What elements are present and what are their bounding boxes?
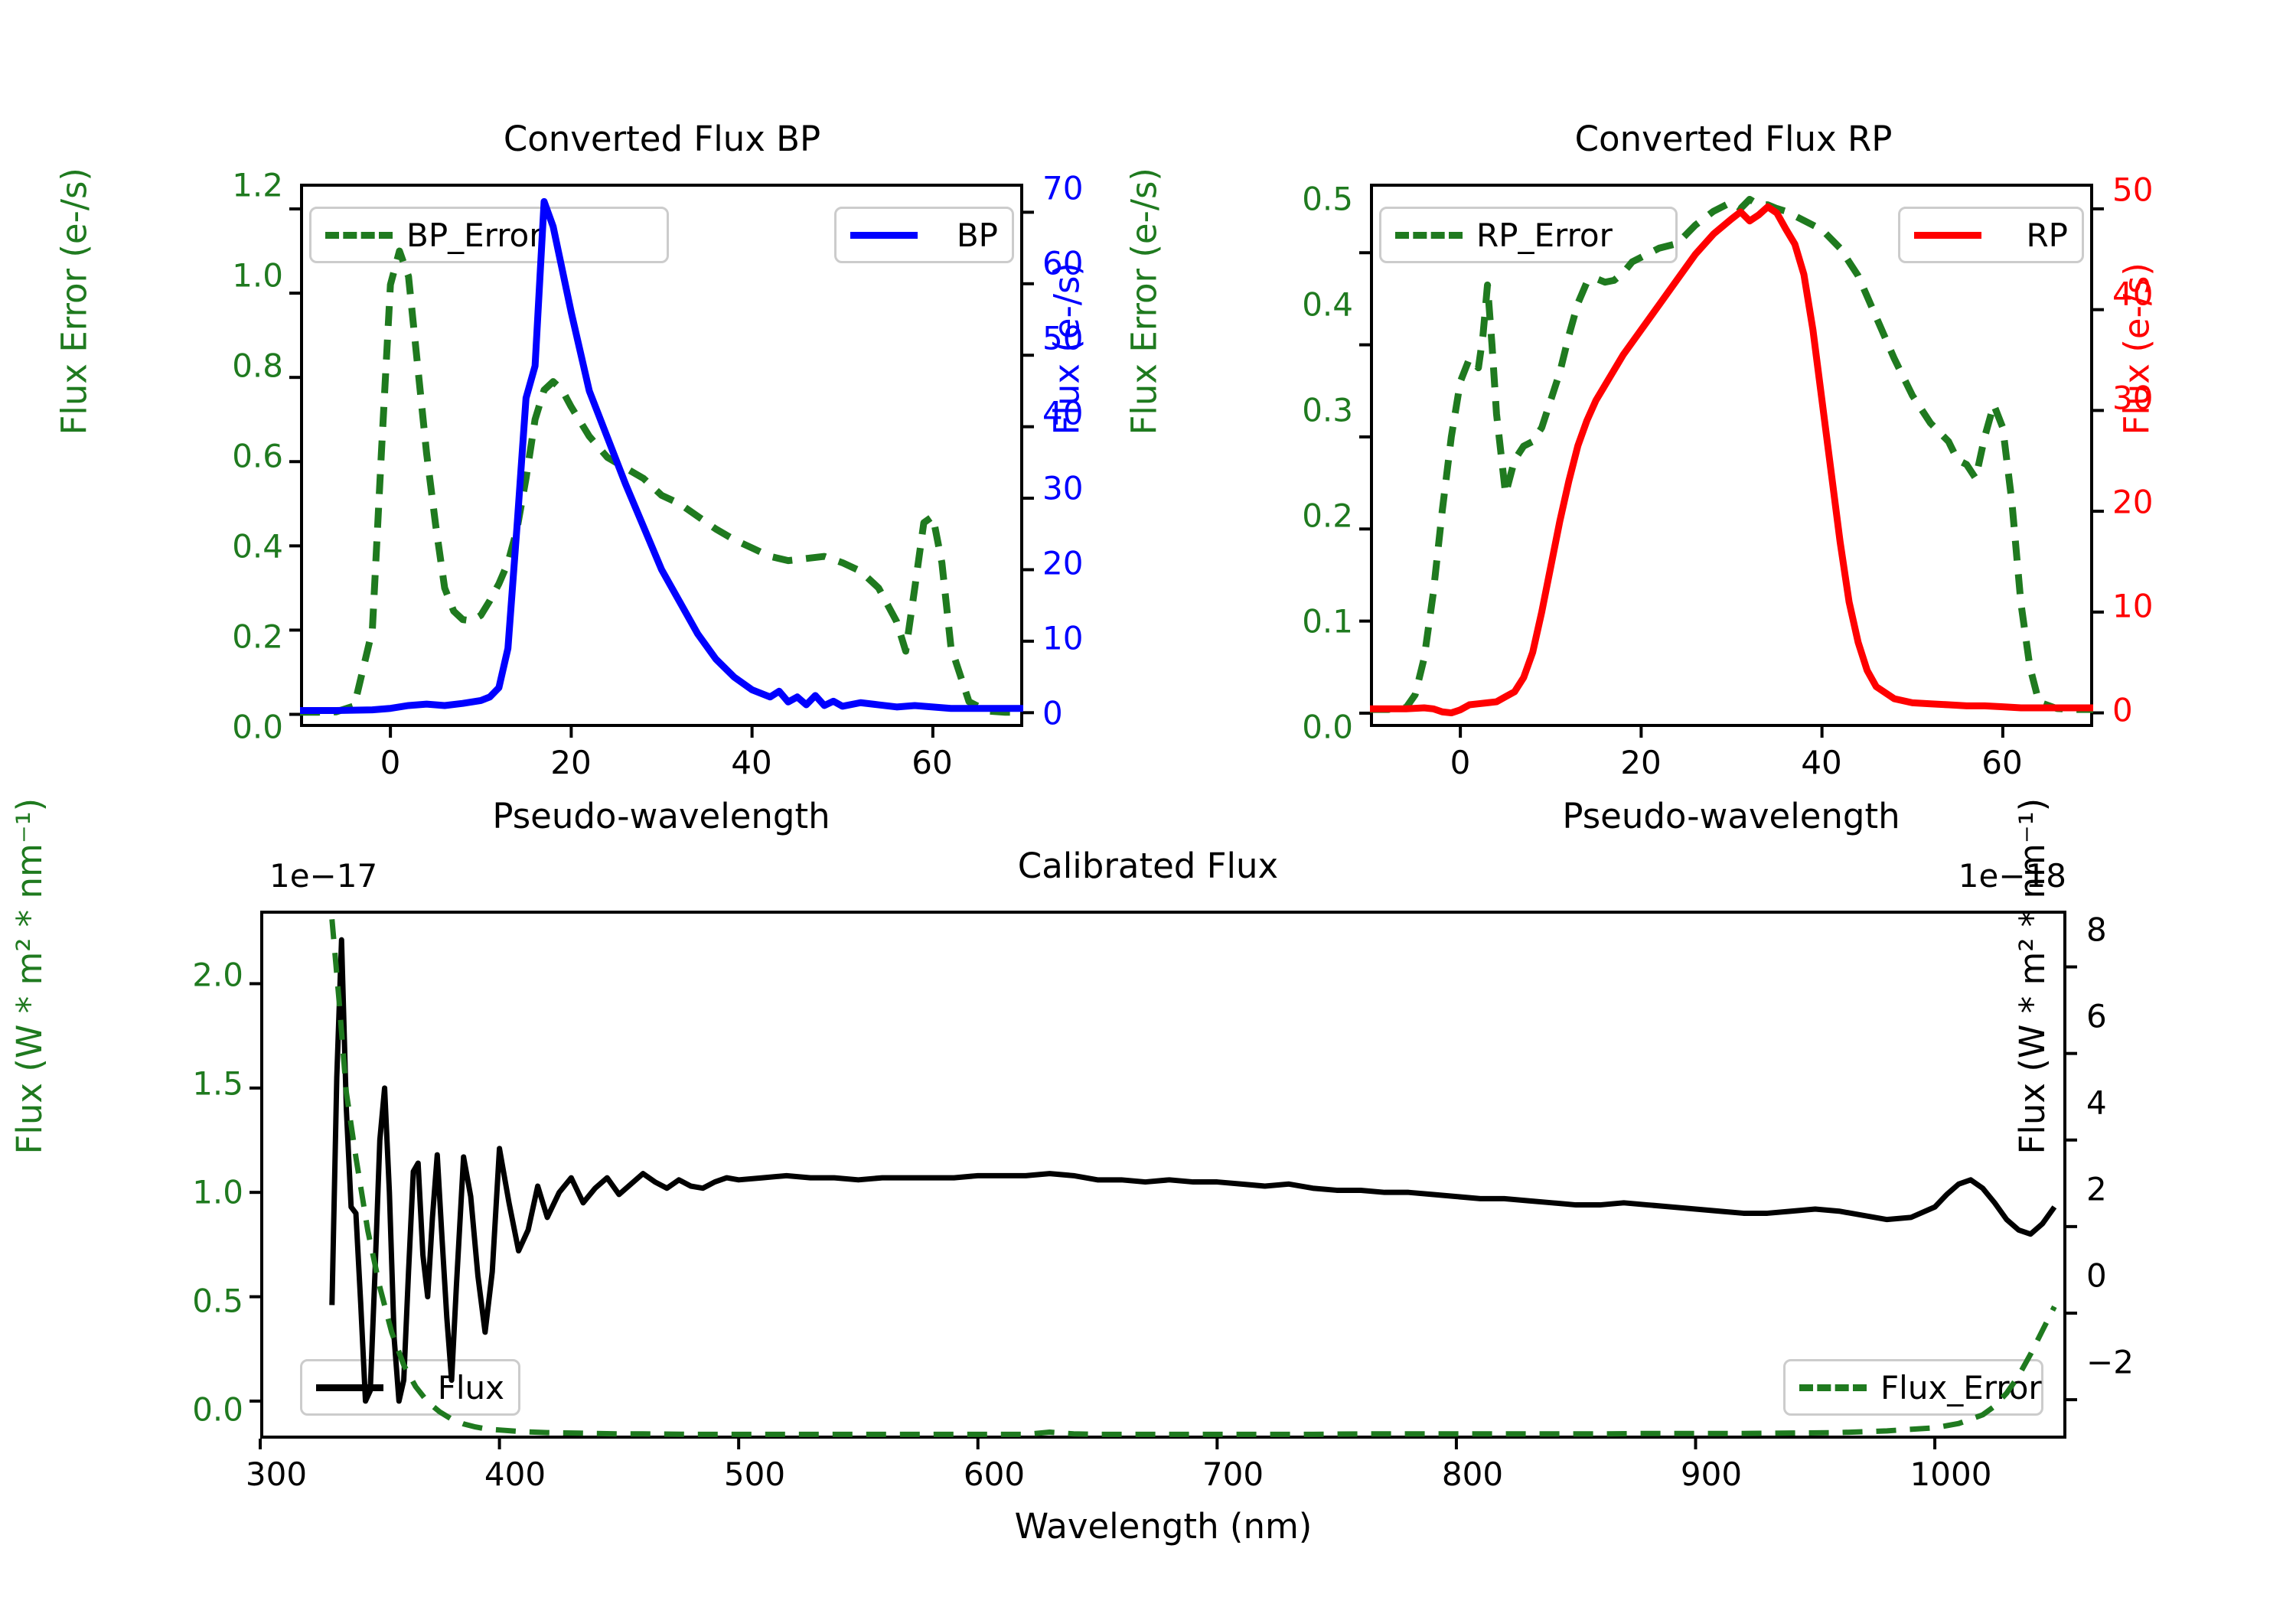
calibrated-curves [0,0,2296,1607]
figure-canvas: Converted Flux BP 0.0 0.2 0.4 0.6 0.8 1.… [0,0,2296,1607]
